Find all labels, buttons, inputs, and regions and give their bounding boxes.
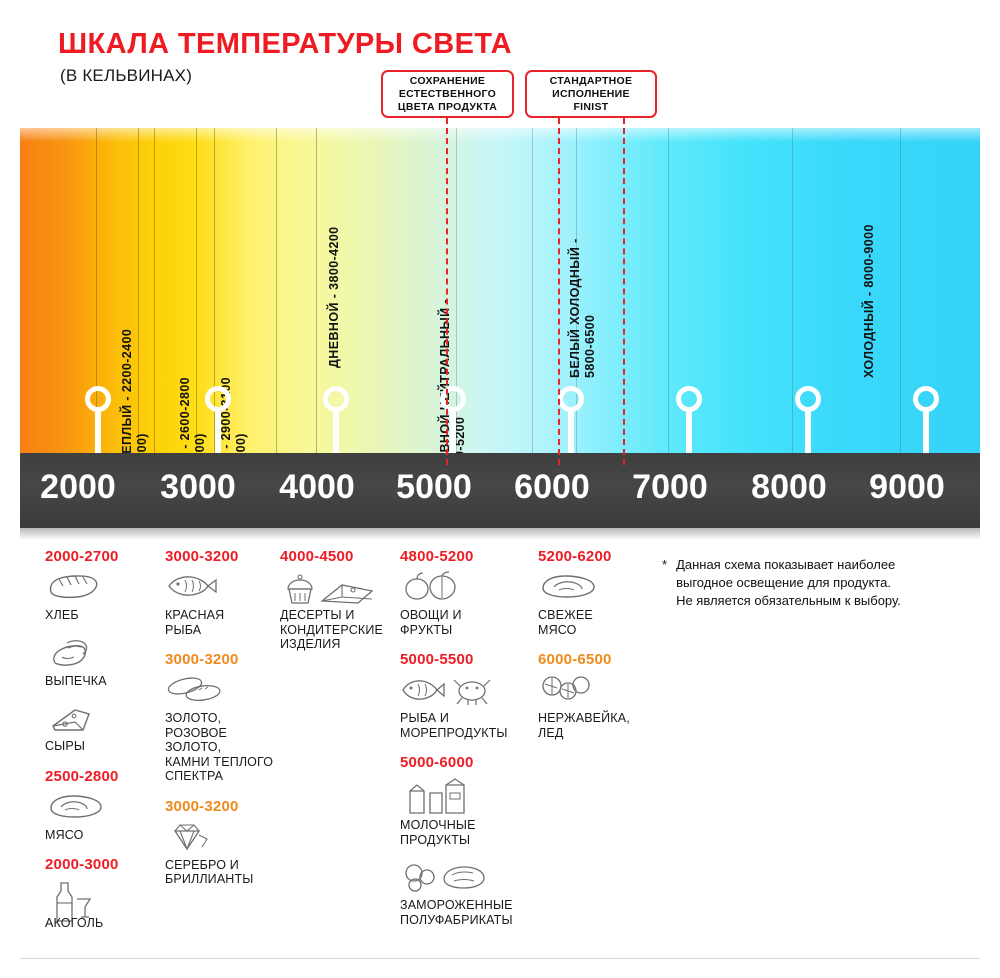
footnote-line: выгодное освещение для продукта. [676,574,901,592]
item-label: СЕРЕБРО И БРИЛЛИАНТЫ [165,858,283,887]
scale-pin-5000 [440,386,466,453]
footnote: * Данная схема показывает наиболее выгод… [662,556,987,610]
legend-group: 3000-3200 СЕРЕБРО И БРИЛЛИАНТЫ [165,798,283,887]
callout-line: FINIST [573,101,608,114]
fish-icon [165,571,283,605]
page-subtitle: (В КЕЛЬВИНАХ) [60,66,192,86]
color-temperature-gradient: СУПЕР ТЕПЛЫЙ - 2200-2400 (тип К 2400) ТЕ… [20,128,980,453]
legend-group: 3000-3200 КРАСНАЯ РЫБА [165,548,283,637]
group-range-label: 3000-3200 [165,548,283,565]
guide-line-finist-left [558,118,560,465]
footnote-text: Данная схема показывает наиболее выгодно… [676,556,901,610]
scale-pin-9000 [913,386,939,453]
guide-line-natural-color-left [446,118,448,465]
footnote-line: Данная схема показывает наиболее [676,556,901,574]
legend-item: НЕРЖАВЕЙКА, ЛЕД [538,674,656,740]
callout-line: ЕСТЕСТВЕННОГО [399,88,496,101]
scale-tick-7000: 7000 [610,468,730,507]
legend-item: ХЛЕБ [45,571,157,623]
item-label: КРАСНАЯ РЫБА [165,608,283,637]
legend-item: КРАСНАЯ РЫБА [165,571,283,637]
fresh-steak-icon [538,571,656,605]
band-label-cool-white: БЕЛЫЙ ХОЛОДНЫЙ - 5800-6500 [568,238,598,378]
band-divider [316,128,317,453]
scale-tick-2000: 2000 [18,468,138,507]
callout-line: ИСПОЛНЕНИЕ [552,88,630,101]
band-divider [532,128,533,453]
ice-cubes-icon [538,674,656,708]
legend-column-produce-dairy: 4800-5200 ОВОЩИ И ФРУКТЫ 5000-5500 РЫБА … [400,548,530,941]
scale-tick-6000: 6000 [492,468,612,507]
legend-group: 3000-3200 ЗОЛОТО, РОЗОВОЕ ЗОЛОТО, КАМНИ … [165,651,283,784]
band-divider [792,128,793,453]
callout-line: СТАНДАРТНОЕ [550,75,633,88]
fish-crab-icon [400,674,530,708]
scale-pin-3000 [205,386,231,453]
item-label: СВЕЖЕЕ МЯСО [538,608,656,637]
scale-tick-4000: 4000 [257,468,377,507]
frozen-food-icon [400,861,530,895]
scale-pin-8000 [795,386,821,453]
rings-icon [165,674,283,708]
milk-carton-icon [400,777,530,815]
page-title: ШКАЛА ТЕМПЕРАТУРЫ СВЕТА [58,28,512,61]
band-divider [276,128,277,453]
group-range-label: 2000-3000 [45,856,157,873]
legend-item: СВЕЖЕЕ МЯСО [538,571,656,637]
legend-item: ВЫПЕЧКА [45,637,157,689]
legend-group: 4000-4500 ДЕСЕРТЫ И КОНДИТЕРСКИЕ ИЗДЕЛИЯ [280,548,398,652]
item-label: ДЕСЕРТЫ И КОНДИТЕРСКИЕ ИЗДЕЛИЯ [280,608,398,652]
legend-group: 4800-5200 ОВОЩИ И ФРУКТЫ [400,548,530,637]
guide-line-finist-right [623,118,625,465]
legend-item: МЯСО [45,791,157,843]
callout-line: СОХРАНЕНИЕ [410,75,485,88]
group-range-label: 5000-6000 [400,754,530,771]
legend-item: СЫРЫ [45,702,157,754]
bottom-divider [20,958,980,959]
legend-group: 5000-6000 МОЛОЧНЫЕ ПРОДУКТЫ ЗАМОРОЖЕННЫЕ… [400,754,530,927]
item-label: ВЫПЕЧКА [45,674,157,689]
item-label: РЫБА И МОРЕПРОДУКТЫ [400,711,530,740]
pastry-icon [45,637,157,671]
item-label: ОВОЩИ И ФРУКТЫ [400,608,530,637]
group-range-label: 4000-4500 [280,548,398,565]
bread-icon [45,571,157,605]
callout-line: ЦВЕТА ПРОДУКТА [398,101,497,114]
steak-icon [45,791,157,825]
gradient-top-highlight [20,128,980,142]
bottle-glass-icon [45,879,157,913]
band-label-daylight: ДНЕВНОЙ - 3800-4200 [327,226,342,368]
band-label-cold: ХОЛОДНЫЙ - 8000-9000 [862,224,877,378]
cheese-icon [45,702,157,736]
band-label-super-warm: СУПЕР ТЕПЛЫЙ - 2200-2400 (тип К 2400) [120,329,150,453]
group-range-label: 6000-6500 [538,651,656,668]
legend-column-desserts: 4000-4500 ДЕСЕРТЫ И КОНДИТЕРСКИЕ ИЗДЕЛИЯ [280,548,398,666]
band-divider [154,128,155,453]
legend-group: 6000-6500 НЕРЖАВЕЙКА, ЛЕД [538,651,656,740]
group-range-label: 5000-5500 [400,651,530,668]
item-label: ЗАМОРОЖЕННЫЕ ПОЛУФАБРИКАТЫ [400,898,530,927]
scale-bar-shadow [20,528,980,540]
scale-pin-7000 [676,386,702,453]
scale-pin-6000 [558,386,584,453]
footnote-marker: * [662,556,667,610]
legend-item: АКОГОЛЬ [45,879,157,931]
item-label: ХЛЕБ [45,608,157,623]
legend-group: 2500-2800 МЯСО [45,768,157,843]
cupcake-cake-icon [280,571,398,605]
item-label: АКОГОЛЬ [45,916,157,931]
scale-pin-4000 [323,386,349,453]
group-range-label: 3000-3200 [165,651,283,668]
scale-pin-2000 [85,386,111,453]
fruit-vegetables-icon [400,571,530,605]
legend-group: 2000-3000 АКОГОЛЬ [45,856,157,931]
legend-group: 5200-6200 СВЕЖЕЕ МЯСО [538,548,656,637]
band-divider [668,128,669,453]
diamond-icon [165,821,283,855]
legend-item: ЗАМОРОЖЕННЫЕ ПОЛУФАБРИКАТЫ [400,861,530,927]
item-label: МЯСО [45,828,157,843]
legend-item: МОЛОЧНЫЕ ПРОДУКТЫ [400,777,530,847]
group-range-label: 2500-2800 [45,768,157,785]
legend-column-fresh-meat-ice: 5200-6200 СВЕЖЕЕ МЯСО 6000-6500 НЕРЖАВЕЙ… [538,548,656,754]
item-label: ЗОЛОТО, РОЗОВОЕ ЗОЛОТО, КАМНИ ТЕПЛОГО СП… [165,711,283,784]
legend-group: 5000-5500 РЫБА И МОРЕПРОДУКТЫ [400,651,530,740]
band-label-warm-2700: ТЕПЛЫЙ - 2600-2800 (тип К 2700) [178,377,208,453]
item-label: СЫРЫ [45,739,157,754]
legend-item: ОВОЩИ И ФРУКТЫ [400,571,530,637]
scale-tick-5000: 5000 [374,468,494,507]
legend-group: 2000-2700 ХЛЕБ ВЫПЕЧКА СЫРЫ [45,548,157,754]
legend-column-fish-jewelry: 3000-3200 КРАСНАЯ РЫБА 3000-3200 ЗОЛОТО,… [165,548,283,901]
legend-item: СЕРЕБРО И БРИЛЛИАНТЫ [165,821,283,887]
group-range-label: 4800-5200 [400,548,530,565]
group-range-label: 2000-2700 [45,548,157,565]
footnote-line: Не является обязательным к выбору. [676,592,901,610]
item-label: НЕРЖАВЕЙКА, ЛЕД [538,711,656,740]
legend-column-warm-food: 2000-2700 ХЛЕБ ВЫПЕЧКА СЫРЫ 250 [45,548,157,945]
legend-item: ЗОЛОТО, РОЗОВОЕ ЗОЛОТО, КАМНИ ТЕПЛОГО СП… [165,674,283,784]
product-legend: 2000-2700 ХЛЕБ ВЫПЕЧКА СЫРЫ 250 [0,548,1000,978]
legend-item: ДЕСЕРТЫ И КОНДИТЕРСКИЕ ИЗДЕЛИЯ [280,571,398,652]
scale-tick-8000: 8000 [729,468,849,507]
band-divider [900,128,901,453]
callout-natural-color: СОХРАНЕНИЕ ЕСТЕСТВЕННОГО ЦВЕТА ПРОДУКТА [381,70,514,118]
group-range-label: 5200-6200 [538,548,656,565]
scale-tick-3000: 3000 [138,468,258,507]
group-range-label: 3000-3200 [165,798,283,815]
legend-item: РЫБА И МОРЕПРОДУКТЫ [400,674,530,740]
callout-finist-standard: СТАНДАРТНОЕ ИСПОЛНЕНИЕ FINIST [525,70,657,118]
scale-tick-9000: 9000 [847,468,967,507]
item-label: МОЛОЧНЫЕ ПРОДУКТЫ [400,818,530,847]
